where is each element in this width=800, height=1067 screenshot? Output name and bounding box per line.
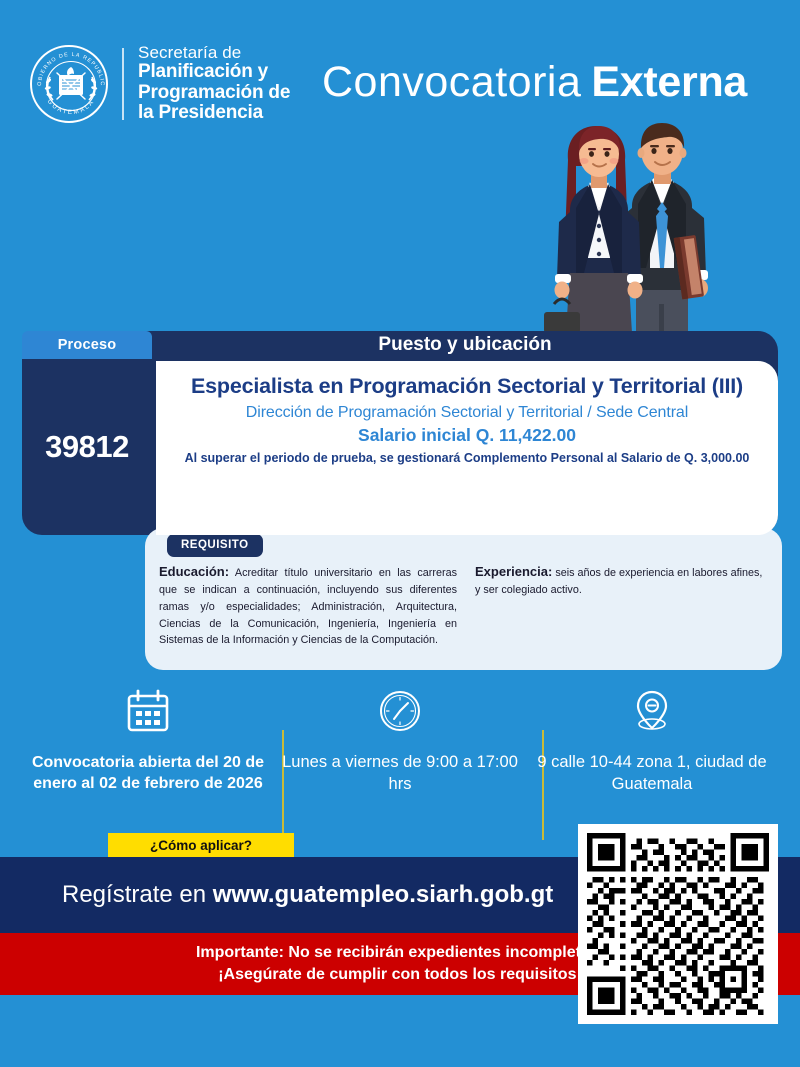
- register-prefix: Regístrate en: [62, 881, 213, 908]
- brand-divider: [122, 48, 124, 120]
- job-department: Dirección de Programación Sectorial y Te…: [178, 404, 756, 422]
- calendar-icon: [125, 688, 171, 734]
- info-column-location: 9 calle 10-44 zona 1, ciudad de Guatemal…: [526, 688, 778, 796]
- requirements-columns: Educación: Acreditar título universitari…: [159, 562, 769, 649]
- education-requirement: Educación: Acreditar título universitari…: [159, 562, 457, 649]
- proceso-label: Proceso: [22, 331, 152, 359]
- page-title: ConvocatoriaExterna: [322, 58, 747, 107]
- page-title-thin: Convocatoria: [322, 58, 581, 106]
- job-card: Proceso 39812 Puesto y ubicación Especia…: [22, 331, 778, 535]
- puesto-section-title-text: Puesto y ubicación: [378, 334, 551, 356]
- professionals-illustration: [540, 118, 770, 333]
- education-label: Educación:: [159, 564, 229, 579]
- proceso-number: 39812: [22, 359, 152, 535]
- institution-line-4: la Presidencia: [138, 103, 290, 124]
- proceso-number-text: 39812: [45, 429, 129, 465]
- experience-label: Experiencia:: [475, 564, 552, 579]
- como-aplicar-button[interactable]: ¿Cómo aplicar?: [108, 833, 294, 857]
- experience-requirement: Experiencia: seis años de experiencia en…: [475, 562, 767, 649]
- institution-name: Secretaría de Planificación y Programaci…: [138, 44, 290, 124]
- requisito-badge-text: REQUISITO: [181, 539, 249, 551]
- info-column-dates: Convocatoria abierta del 20 de enero al …: [22, 688, 274, 796]
- requisito-badge: REQUISITO: [167, 534, 263, 557]
- location-text: 9 calle 10-44 zona 1, ciudad de Guatemal…: [526, 752, 778, 796]
- brand-lockup: GOBIERNO DE LA REPUBLICA GUATEMALA: [30, 44, 290, 124]
- hours-text: Lunes a viernes de 9:00 a 17:00 hrs: [274, 752, 526, 796]
- requirements-card: REQUISITO Educación: Acreditar título un…: [145, 528, 782, 670]
- register-text: Regístrate en www.guatempleo.siarh.gob.g…: [62, 881, 553, 909]
- qr-code[interactable]: [578, 824, 778, 1024]
- info-columns: Convocatoria abierta del 20 de enero al …: [22, 688, 778, 796]
- job-salary: Salario inicial Q. 11,422.00: [178, 425, 756, 446]
- svg-text:GUATEMALA: GUATEMALA: [46, 98, 96, 116]
- register-url[interactable]: www.guatempleo.siarh.gob.gt: [213, 881, 553, 908]
- dates-text: Convocatoria abierta del 20 de enero al …: [22, 752, 274, 794]
- map-pin-icon: [629, 688, 675, 734]
- guatemala-seal-icon: GOBIERNO DE LA REPUBLICA GUATEMALA: [30, 45, 108, 123]
- como-aplicar-label: ¿Cómo aplicar?: [150, 838, 252, 853]
- info-column-hours: Lunes a viernes de 9:00 a 17:00 hrs: [274, 688, 526, 796]
- institution-line-1: Secretaría de: [138, 44, 290, 62]
- page-header: GOBIERNO DE LA REPUBLICA GUATEMALA: [0, 0, 800, 330]
- job-salary-note: Al superar el periodo de prueba, se gest…: [178, 451, 756, 467]
- warning-line-1: Importante: No se recibirán expedientes …: [196, 942, 604, 964]
- institution-line-2: Planificación y: [138, 62, 290, 83]
- institution-line-3: Programación de: [138, 83, 290, 104]
- job-details-panel: Especialista en Programación Sectorial y…: [156, 361, 778, 535]
- page-title-bold: Externa: [591, 58, 747, 106]
- job-title: Especialista en Programación Sectorial y…: [178, 373, 756, 399]
- puesto-section-title: Puesto y ubicación: [152, 331, 778, 359]
- proceso-label-text: Proceso: [58, 337, 117, 353]
- clock-icon: [377, 688, 423, 734]
- warning-line-2: ¡Asegúrate de cumplir con todos los requ…: [218, 964, 582, 986]
